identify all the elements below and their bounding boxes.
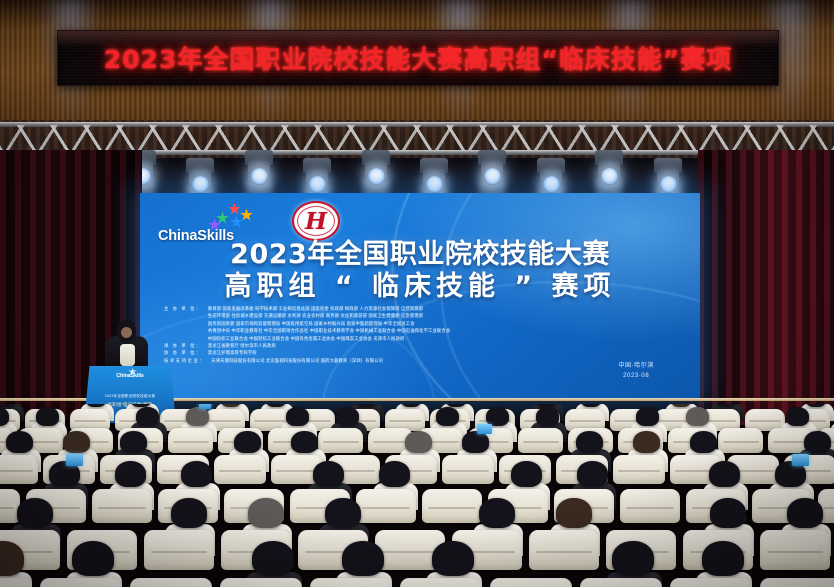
attendee-head [171, 498, 207, 528]
attendee-head [710, 498, 746, 528]
attendee-head [690, 431, 717, 453]
attendee-head [511, 461, 542, 487]
attendee-head [286, 407, 309, 426]
attendee-head [479, 498, 515, 528]
tech-support-row: 技术支持企业： 天津天堰科技股份有限公司 北京医视科技股份有限公司 国药大器教育… [164, 357, 679, 364]
screen-logo-group: ChinaSkills H [158, 201, 340, 243]
emblem-letter: H [305, 210, 327, 233]
attendee-phone-screen [792, 454, 809, 466]
auditorium-seat [718, 428, 763, 453]
attendee-head [612, 541, 654, 576]
attendee-phone-screen [477, 424, 492, 434]
attendee-head [325, 498, 361, 528]
audience [0, 404, 834, 587]
attendee-head [633, 431, 660, 453]
attendee-head [577, 461, 608, 487]
auditorium-seat [580, 578, 662, 587]
school-emblem-icon: H [292, 201, 340, 241]
host-line: 国务院国资委 国家市场和监督管理局 中国民用航空局 国家乡村振兴局 国家中医药管… [208, 320, 679, 327]
attendee-head [115, 461, 146, 487]
attendee-head [120, 431, 147, 453]
led-banner: 2023年全国职业院校技能大赛高职组“临床技能”赛项 [57, 30, 779, 86]
host-line: 中国纺织工业联合会 中国轻纺工业联合会 中国有色金属工业协会 中国煤炭工业协会 … [208, 335, 679, 342]
attendee-head [436, 407, 459, 426]
chinaskills-star-icon [228, 203, 241, 216]
attendee-head [252, 541, 294, 576]
auditorium-seat [40, 578, 122, 587]
attendee-head [804, 431, 831, 453]
screen-title: 2023年全国职业院校技能大赛 高职组 “ 临床技能 ” 赛项 [140, 239, 700, 303]
auditorium-seat [130, 578, 212, 587]
attendee-head [686, 407, 709, 426]
auditorium-seat [0, 455, 38, 484]
led-banner-text: 2023年全国职业院校技能大赛高职组“临床技能”赛项 [104, 40, 732, 76]
attendee-head [181, 461, 212, 487]
attendee-phone-screen [66, 454, 83, 466]
undertaker-row: 承 办 单 位： 黑龙江省教育厅 哈尔滨市人民政府 [164, 342, 679, 349]
podium-brand: ChinaSkills [84, 373, 176, 379]
auditorium-seat [490, 578, 572, 587]
auditorium-seat [400, 578, 482, 587]
attendee-head [576, 431, 603, 453]
attendee-head [313, 461, 344, 487]
auditorium-seat [442, 455, 494, 484]
attendee-head [186, 407, 209, 426]
screen-title-line2: 高职组 “ 临床技能 ” 赛项 [140, 271, 700, 303]
attendee-head [136, 407, 159, 426]
auditorium-seat [760, 578, 834, 587]
tech-support-value: 天津天堰科技股份有限公司 北京医视科技股份有限公司 国药大器教育（深圳）有限公司 [211, 357, 679, 364]
auditorium-seat [613, 455, 665, 484]
auditorium-seat [92, 489, 152, 523]
auditorium-seat [310, 578, 392, 587]
auditorium-seat [518, 428, 563, 453]
attendee-head [787, 498, 823, 528]
attendee-head [6, 431, 33, 453]
screen-place: 中国·哈尔滨 [618, 362, 654, 372]
host-line: 生态环境部 住房城乡建设部 交通运输部 水利部 农业农村部 商务部 文化和旅游部… [208, 312, 679, 319]
host-organizers-row: 主 办 单 位： 教育部 国家发展改革委 科学技术部 工业和信息化部 国家民委 … [164, 305, 679, 342]
chinaskills-star-icon [230, 216, 243, 229]
screen-place-date: 中国·哈尔滨 2023·08 [618, 362, 654, 382]
attendee-head [709, 461, 740, 487]
attendee-head [379, 461, 410, 487]
screen-fineprint: 主 办 单 位： 教育部 国家发展改革委 科学技术部 工业和信息化部 国家民委 … [164, 305, 679, 364]
attendee-head [342, 541, 384, 576]
screen-date: 2023·08 [618, 372, 654, 382]
speaker-shirt [120, 344, 135, 366]
auditorium-seat [620, 489, 680, 523]
auditorium-seat [356, 489, 416, 523]
attendee-head [636, 407, 659, 426]
undertaker-value: 黑龙江省教育厅 哈尔滨市人民政府 [208, 342, 679, 349]
speaker-face [121, 327, 132, 338]
attendee-head [234, 431, 261, 453]
truss-lattice [0, 125, 834, 151]
attendee-head [405, 431, 432, 453]
attendee-head [702, 541, 744, 576]
attendee-head [72, 541, 114, 576]
chinaskills-star-icon [240, 209, 253, 222]
auditorium-seat [214, 455, 266, 484]
host-line: 教育部 国家发展改革委 科学技术部 工业和信息化部 国家民委 民政部 财政部 人… [208, 305, 679, 312]
attendee-head [36, 407, 59, 426]
podium-line1: 2023年全国职业院校技能大赛 [90, 394, 170, 399]
attendee-head [63, 431, 90, 453]
auditorium-scene: 2023年全国职业院校技能大赛高职组“临床技能”赛项 ChinaSkills H [0, 0, 834, 587]
attendee-head [248, 498, 284, 528]
chinaskills-star-icon [216, 212, 229, 225]
screen-title-line1: 2023年全国职业院校技能大赛 [140, 239, 700, 271]
auditorium-seat [670, 578, 752, 587]
auditorium-seat [529, 530, 599, 570]
attendee-head [291, 431, 318, 453]
attendee-head [556, 498, 592, 528]
auditorium-seat [220, 578, 302, 587]
attendee-head [462, 431, 489, 453]
auditorium-seat [168, 428, 213, 453]
attendee-head [432, 541, 474, 576]
auditorium-seat [318, 428, 363, 453]
auditorium-seat [422, 489, 482, 523]
attendee-head [336, 407, 359, 426]
host-line: 共青团中央 中华职业教育社 中华全国职场合作总社 中国职业技术教育学会 中国机械… [208, 327, 679, 334]
host-values: 教育部 国家发展改革委 科学技术部 工业和信息化部 国家民委 民政部 财政部 人… [208, 305, 679, 342]
auditorium-seat [760, 530, 830, 570]
attendee-head [536, 407, 559, 426]
chinaskills-logo: ChinaSkills [158, 203, 276, 244]
chinaskills-star-marks [206, 203, 276, 229]
auditorium-seat [144, 530, 214, 570]
attendee-head [17, 498, 53, 528]
attendee-head [786, 407, 809, 426]
led-screen: ChinaSkills H 2023年全国职业院校技能大赛 高职组 “ 临床技能… [140, 193, 700, 400]
auditorium-seat [0, 578, 32, 587]
coorganizer-row: 协 办 单 位： 黑龙江护理高等专科学校 [164, 349, 679, 356]
stage-curtain-right [698, 150, 834, 425]
attendee-phone-screen [199, 404, 212, 409]
coorganizer-value: 黑龙江护理高等专科学校 [208, 349, 679, 356]
